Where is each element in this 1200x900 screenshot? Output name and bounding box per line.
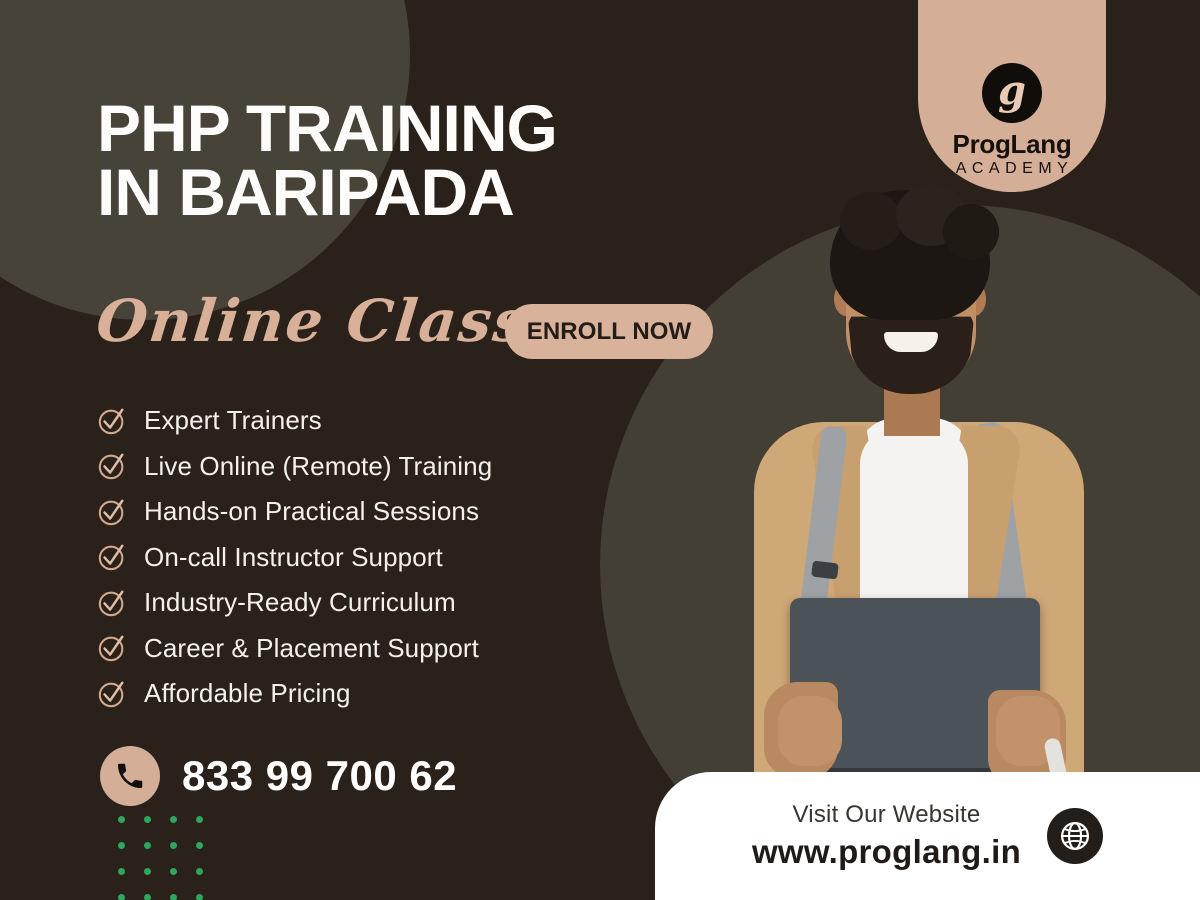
list-item: Career & Placement Support — [97, 626, 657, 672]
brand-subtitle: ACADEMY — [956, 160, 1074, 178]
headline-line-2: IN BARIPADA — [97, 160, 737, 224]
list-item: On-call Instructor Support — [97, 535, 657, 581]
list-item-label: Career & Placement Support — [144, 633, 479, 664]
dot — [196, 894, 203, 900]
promo-poster: g ProgLang ACADEMY PHP TRAINING IN BARIP… — [0, 0, 1200, 900]
dot — [144, 816, 151, 823]
contact-phone[interactable]: 833 99 700 62 — [100, 746, 457, 806]
brand-name: ProgLang — [953, 131, 1072, 158]
logo-badge[interactable]: g ProgLang ACADEMY — [918, 0, 1106, 192]
strap-buckle-left — [811, 560, 839, 579]
check-circle-icon — [97, 679, 127, 709]
list-item-label: Live Online (Remote) Training — [144, 451, 492, 482]
phone-icon — [100, 746, 160, 806]
dot — [144, 842, 151, 849]
hair-curl-a — [840, 192, 902, 250]
list-item: Affordable Pricing — [97, 671, 657, 717]
website-texts: Visit Our Website www.proglang.in — [752, 801, 1021, 871]
logo-glyph: g — [998, 71, 1026, 111]
list-item-label: Hands-on Practical Sessions — [144, 496, 479, 527]
list-item-label: Expert Trainers — [144, 405, 322, 436]
list-item: Industry-Ready Curriculum — [97, 580, 657, 626]
check-circle-icon — [97, 406, 127, 436]
list-item: Hands-on Practical Sessions — [97, 489, 657, 535]
website-panel[interactable]: Visit Our Website www.proglang.in — [655, 772, 1200, 900]
website-caption: Visit Our Website — [793, 801, 981, 829]
page-title: PHP TRAINING IN BARIPADA — [97, 96, 737, 224]
dot — [196, 868, 203, 875]
check-circle-icon — [97, 633, 127, 663]
headline-line-1: PHP TRAINING — [97, 96, 737, 160]
smile — [884, 332, 938, 352]
list-item-label: On-call Instructor Support — [144, 542, 443, 573]
dot-grid-decoration — [118, 816, 222, 900]
phone-number: 833 99 700 62 — [182, 752, 457, 800]
dot — [118, 816, 125, 823]
check-circle-icon — [97, 542, 127, 572]
check-circle-icon — [97, 451, 127, 481]
list-item-label: Affordable Pricing — [144, 678, 351, 709]
check-circle-icon — [97, 497, 127, 527]
website-url: www.proglang.in — [752, 833, 1021, 871]
hair-curl-c — [943, 204, 999, 260]
dot — [170, 868, 177, 875]
globe-glyph — [1057, 818, 1093, 854]
student-photo — [700, 190, 1200, 810]
fingers-left — [778, 696, 842, 766]
list-item-label: Industry-Ready Curriculum — [144, 587, 456, 618]
list-item: Live Online (Remote) Training — [97, 444, 657, 490]
dot — [170, 894, 177, 900]
dot — [196, 816, 203, 823]
phone-handset-glyph — [114, 760, 146, 792]
logo-mark-icon: g — [982, 63, 1042, 123]
list-item: Expert Trainers — [97, 398, 657, 444]
dot — [144, 868, 151, 875]
dot — [118, 894, 125, 900]
dot — [170, 816, 177, 823]
jacket-opening — [860, 428, 968, 614]
dot — [118, 842, 125, 849]
dot — [144, 894, 151, 900]
globe-icon — [1047, 808, 1103, 864]
enroll-now-button[interactable]: ENROLL NOW — [505, 304, 713, 359]
feature-list: Expert Trainers Live Online (Remote) Tra… — [97, 398, 657, 717]
dot — [196, 842, 203, 849]
dot — [170, 842, 177, 849]
dot — [118, 868, 125, 875]
check-circle-icon — [97, 588, 127, 618]
